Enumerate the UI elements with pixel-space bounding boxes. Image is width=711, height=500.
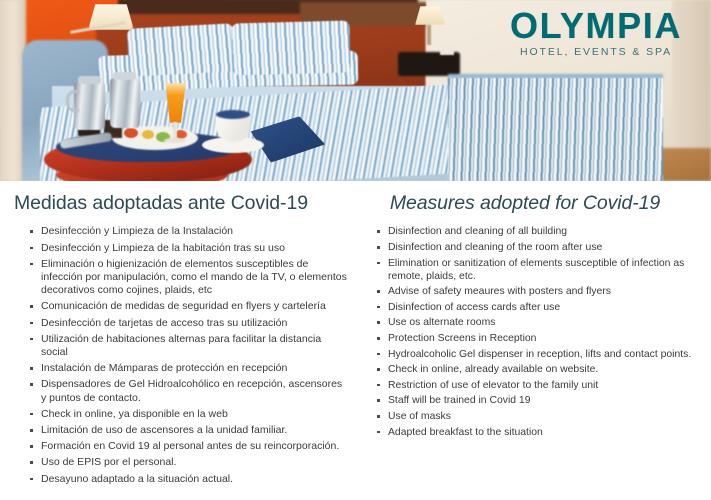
coffee-pot-handle [66, 90, 79, 112]
juice-glass-foot [164, 138, 186, 143]
measure-list-item: Check in online, already available on we… [373, 363, 701, 376]
measure-list-item: Staff will be trained in Covid 19 [373, 394, 701, 407]
measure-list-item: Desinfección y Limpieza de la Instalació… [26, 225, 347, 238]
spanish-heading: Medidas adoptadas ante Covid-19 [10, 193, 347, 214]
measure-list-item: Utilización de habitaciones alternas par… [26, 333, 347, 359]
olympia-logo: OLYMPIA HOTEL, EVENTS & SPA [500, 8, 692, 58]
covid-measures-poster: OLYMPIA HOTEL, EVENTS & SPA Medidas adop… [0, 0, 711, 500]
coffee-cup-rim [216, 110, 250, 119]
measure-list-item: Disinfection of access cards after use [373, 301, 701, 314]
measure-list-item: Hydroalcoholic Gel dispenser in receptio… [373, 348, 701, 361]
nightstand-tissue-box [440, 42, 454, 55]
measure-list-item: Desinfección de tarjetas de acceso tras … [26, 317, 347, 330]
measure-list-item: Uso de EPIS por el personal. [26, 456, 347, 469]
food-item [142, 130, 154, 139]
measure-list-item: Formación en Covid 19 al personal antes … [26, 440, 347, 453]
measure-list-item: Eliminación o higienización de elementos… [26, 258, 347, 298]
measure-list-item: Desinfección y Limpieza de la habitación… [26, 242, 347, 255]
measure-list-item: Protection Screens in Reception [373, 332, 701, 345]
measure-list-item: Adapted breakfast to the situation [373, 426, 701, 439]
english-column: Measures adopted for Covid-19 Disinfecti… [355, 181, 711, 500]
coffee-pot [110, 78, 140, 128]
measure-list-item: Dispensadores de Gel Hidroalcohólico en … [26, 378, 347, 404]
pillow [231, 20, 350, 75]
english-measures-list: Disinfection and cleaning of all buildin… [363, 225, 701, 438]
logo-wordmark: OLYMPIA [500, 8, 692, 44]
hero-hotel-room-photo: OLYMPIA HOTEL, EVENTS & SPA [0, 0, 711, 181]
measure-list-item: Elimination or sanitization of elements … [373, 257, 701, 283]
lamp-base-right [427, 25, 431, 45]
coffee-pot-lid [78, 76, 101, 84]
english-heading: Measures adopted for Covid-19 [363, 193, 701, 214]
pillow [127, 23, 235, 76]
measure-list-item: Disinfection and cleaning of all buildin… [373, 225, 701, 238]
spanish-measures-list: Desinfección y Limpieza de la Instalació… [10, 225, 347, 485]
food-item [124, 128, 138, 138]
measure-list-item: Comunicación de medidas de seguridad en … [26, 300, 347, 313]
measure-list-item: Use of masks [373, 410, 701, 423]
measure-list-item: Instalación de Mámparas de protección en… [26, 362, 347, 375]
logo-tagline: HOTEL, EVENTS & SPA [500, 47, 692, 58]
measure-list-item: Use os alternate rooms [373, 316, 701, 329]
measure-list-item: Desayuno adaptado a la situación actual. [26, 473, 347, 486]
measure-list-item: Check in online, ya disponible en la web [26, 408, 347, 421]
measure-list-item: Limitación de uso de ascensores a la uni… [26, 424, 347, 437]
measure-list-item: Restriction of use of elevator to the fa… [373, 379, 701, 392]
measure-list-item: Disinfection and cleaning of the room af… [373, 241, 701, 254]
striped-bedspread-right [448, 78, 663, 181]
measures-content: Medidas adoptadas ante Covid-19 Desinfec… [0, 181, 711, 500]
measure-list-item: Advise of safety meaures with posters an… [373, 285, 701, 298]
spanish-column: Medidas adoptadas ante Covid-19 Desinfec… [0, 181, 355, 500]
coffee-pot-lid [113, 72, 136, 80]
nightstand [398, 52, 460, 76]
